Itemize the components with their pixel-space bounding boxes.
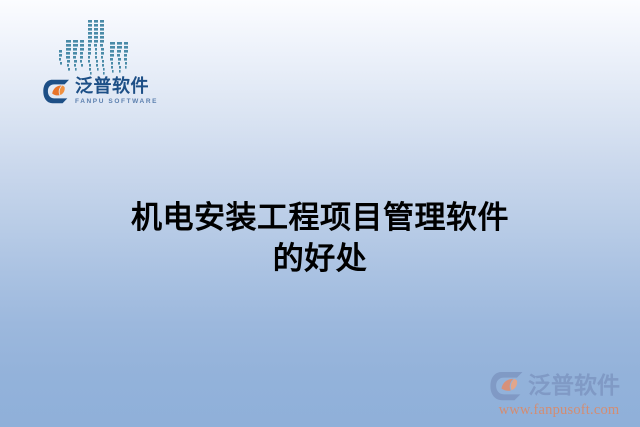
- slide-title-line-1: 机电安装工程项目管理软件: [0, 198, 640, 239]
- fanpu-wordmark: 泛普软件 FANPU SOFTWARE: [75, 78, 158, 105]
- watermark-url: www.fanpusoft.com: [486, 402, 632, 419]
- watermark-logo-row: 泛普软件: [486, 371, 632, 401]
- presentation-slide: 泛普软件 FANPU SOFTWARE 机电安装工程项目管理软件 的好处 泛普软…: [0, 0, 640, 427]
- dot-matrix-cityscape-icon: [58, 18, 148, 80]
- fanpu-logo-lockup: 泛普软件 FANPU SOFTWARE: [43, 78, 158, 105]
- fanpu-logo-mark-icon: [43, 79, 70, 104]
- fanpu-watermark-logo-mark-icon: [490, 371, 524, 401]
- watermark: 泛普软件 www.fanpusoft.com: [486, 371, 632, 419]
- slide-title: 机电安装工程项目管理软件 的好处: [0, 198, 640, 280]
- slide-title-line-2: 的好处: [0, 239, 640, 280]
- watermark-brand-name: 泛普软件: [528, 375, 620, 398]
- brand-name-en: FANPU SOFTWARE: [75, 98, 158, 105]
- brand-name-cn: 泛普软件: [75, 78, 158, 97]
